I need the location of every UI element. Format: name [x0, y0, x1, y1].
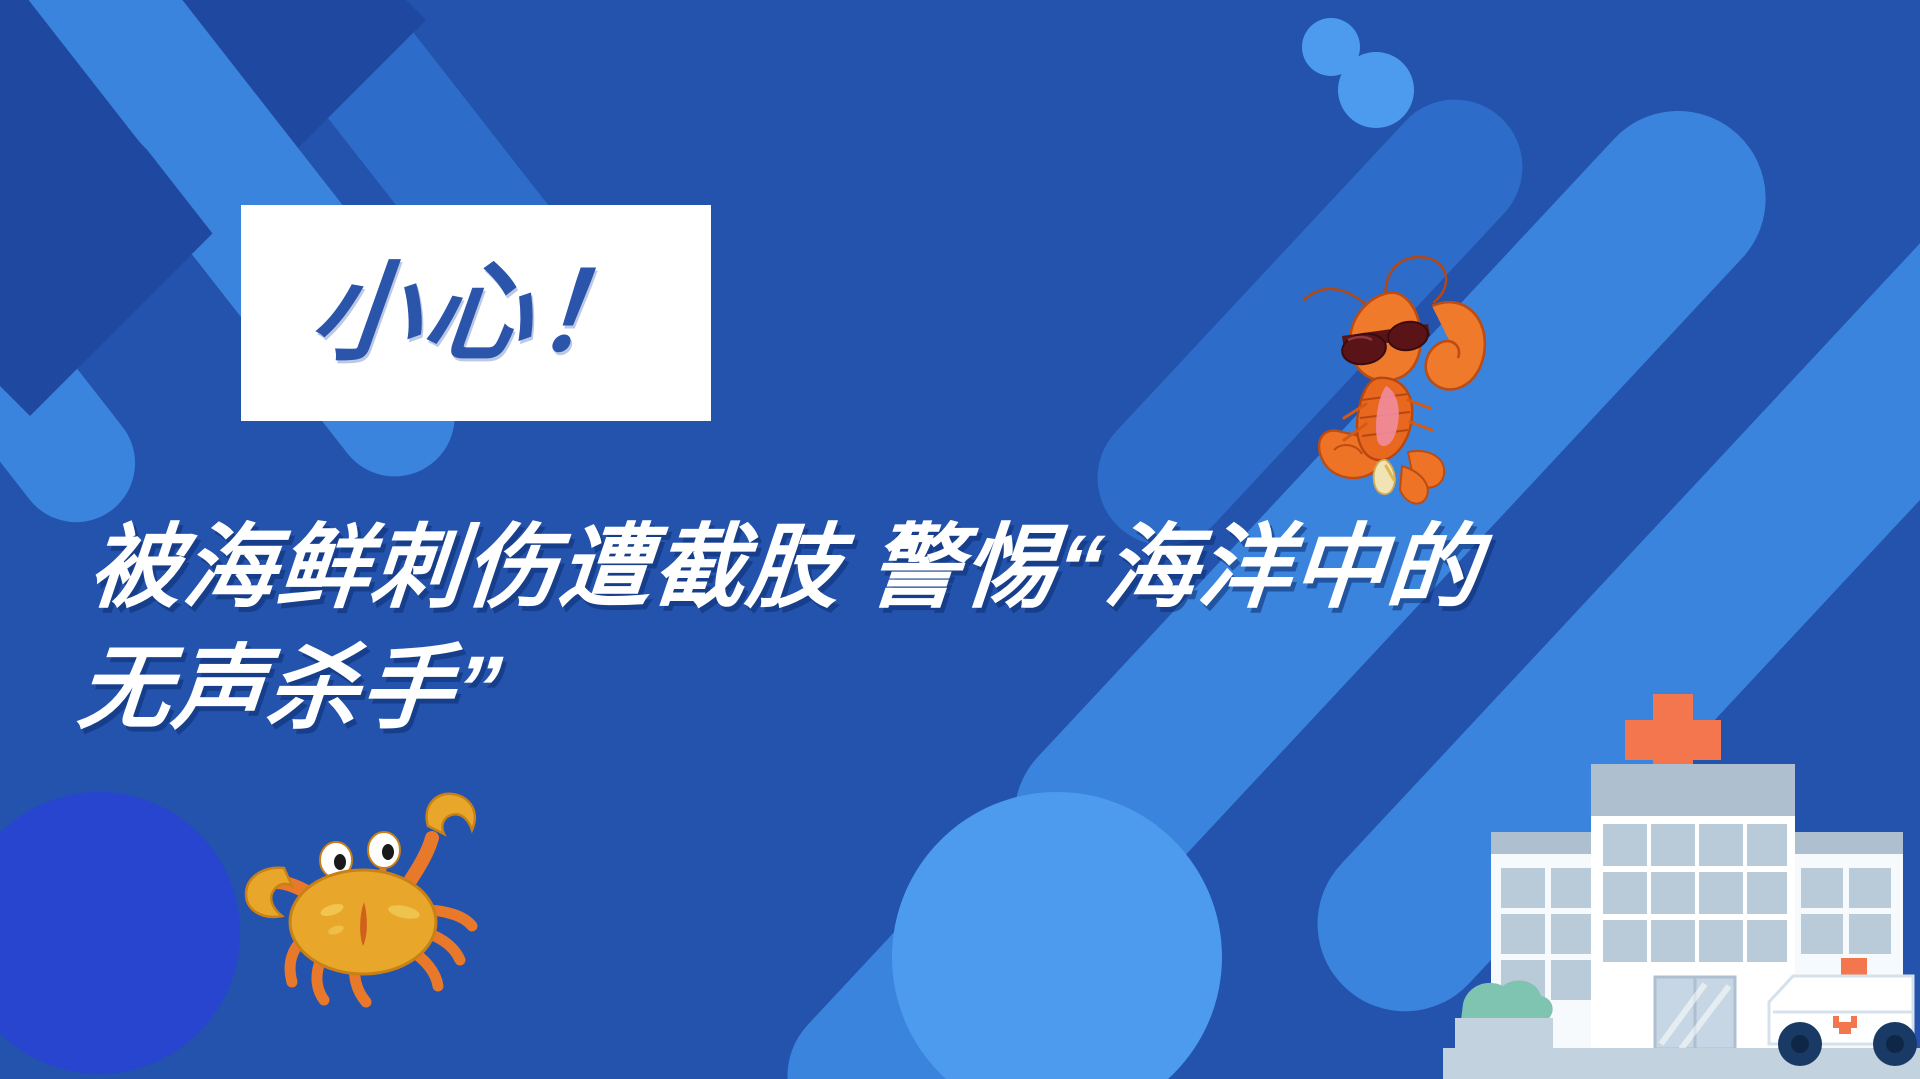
bubble-large-icon: [1338, 52, 1414, 128]
headline-line-1: 被海鲜刺伤遭截肢 警惕“海洋中的: [84, 508, 1815, 629]
warning-badge-label: 小心！: [298, 259, 653, 367]
crab-icon: [232, 790, 492, 1020]
lobster-icon: [1282, 236, 1512, 516]
poster-root: 小心！ 被海鲜刺伤遭截肢 警惕“海洋中的 无声杀手”: [0, 0, 1920, 1079]
dark-blue-circle-decor: [0, 792, 240, 1074]
warning-badge-box: 小心！: [241, 205, 711, 421]
hospital-icon: [1443, 672, 1920, 1079]
